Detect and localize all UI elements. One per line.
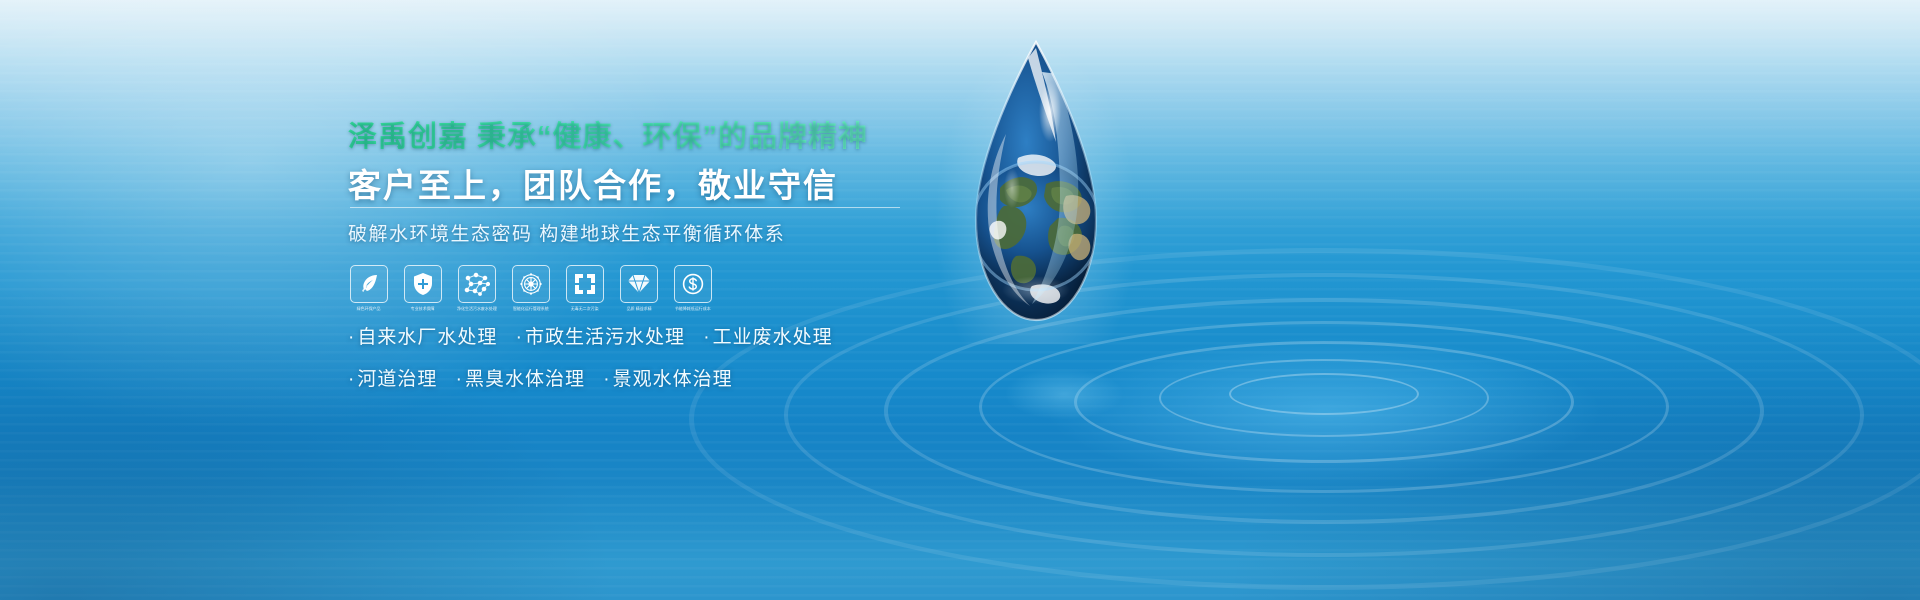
headline-secondary: 客户至上，团队合作，敬业守信 [348, 159, 838, 207]
service-item[interactable]: ·市政生活污水处理 [516, 327, 685, 348]
dollar-circle-icon [674, 265, 712, 303]
brain-gear-icon [512, 265, 550, 303]
service-list: ·自来水厂水处理 ·市政生活污水处理 ·工业废水处理 ·河道治理 ·黑臭水体治理… [348, 322, 845, 406]
feature-item[interactable]: 绿色环保产品 [350, 265, 388, 312]
bullet-dot: · [603, 369, 610, 390]
frame-bracket-icon [566, 265, 604, 303]
feature-label: 绿色环保产品 [357, 307, 381, 312]
feature-label: 专业技术保障 [411, 307, 435, 312]
service-item[interactable]: ·自来水厂水处理 [348, 327, 497, 348]
feature-item[interactable]: 净化生活污水废水处理 [458, 265, 496, 312]
bullet-dot: · [456, 369, 463, 390]
bullet-dot: · [348, 327, 355, 348]
service-label: 市政生活污水处理 [525, 327, 685, 348]
service-label: 景观水体治理 [613, 369, 733, 390]
feature-item[interactable]: 智能化运行管理系统 [512, 265, 550, 312]
hero-content: 泽禹创嘉 秉承“健康、环保”的品牌精神 客户至上，团队合作，敬业守信 破解水环境… [348, 0, 1108, 600]
feature-item[interactable]: 无毒无二次污染 [566, 265, 604, 312]
feature-label: 品质 精益求精 [627, 307, 652, 312]
feature-item[interactable]: 品质 精益求精 [620, 265, 658, 312]
service-label: 黑臭水体治理 [465, 369, 585, 390]
feature-item[interactable]: 专业技术保障 [404, 265, 442, 312]
service-item[interactable]: ·工业废水处理 [703, 327, 832, 348]
diamond-icon [620, 265, 658, 303]
feature-item[interactable]: 节能降耗低运行成本 [674, 265, 712, 312]
molecule-net-icon [458, 265, 496, 303]
service-item[interactable]: ·河道治理 [348, 369, 437, 390]
service-item[interactable]: ·景观水体治理 [603, 369, 732, 390]
service-label: 工业废水处理 [713, 327, 833, 348]
bullet-dot: · [516, 327, 523, 348]
hero-banner: 泽禹创嘉 秉承“健康、环保”的品牌精神 客户至上，团队合作，敬业守信 破解水环境… [0, 0, 1920, 600]
feature-label: 节能降耗低运行成本 [675, 307, 711, 312]
service-line-2: ·河道治理 ·黑臭水体治理 ·景观水体治理 [348, 364, 845, 391]
bullet-dot: · [348, 369, 355, 390]
hero-tagline: 破解水环境生态密码 构建地球生态平衡循环体系 [348, 219, 785, 246]
ripple-ring [1229, 373, 1419, 415]
leaf-wing-icon [350, 265, 388, 303]
feature-icon-row: 绿色环保产品 专业技术保障 [350, 265, 712, 312]
service-line-1: ·自来水厂水处理 ·市政生活污水处理 ·工业废水处理 [348, 322, 845, 349]
service-label: 自来水厂水处理 [357, 327, 497, 348]
headline-primary: 泽禹创嘉 秉承“健康、环保”的品牌精神 [348, 113, 868, 155]
bullet-dot: · [703, 327, 710, 348]
feature-label: 净化生活污水废水处理 [457, 307, 497, 312]
headline-divider [350, 207, 900, 208]
service-label: 河道治理 [357, 369, 437, 390]
feature-label: 无毒无二次污染 [571, 307, 599, 312]
feature-label: 智能化运行管理系统 [513, 307, 549, 312]
shield-plus-icon [404, 265, 442, 303]
service-item[interactable]: ·黑臭水体治理 [456, 369, 585, 390]
